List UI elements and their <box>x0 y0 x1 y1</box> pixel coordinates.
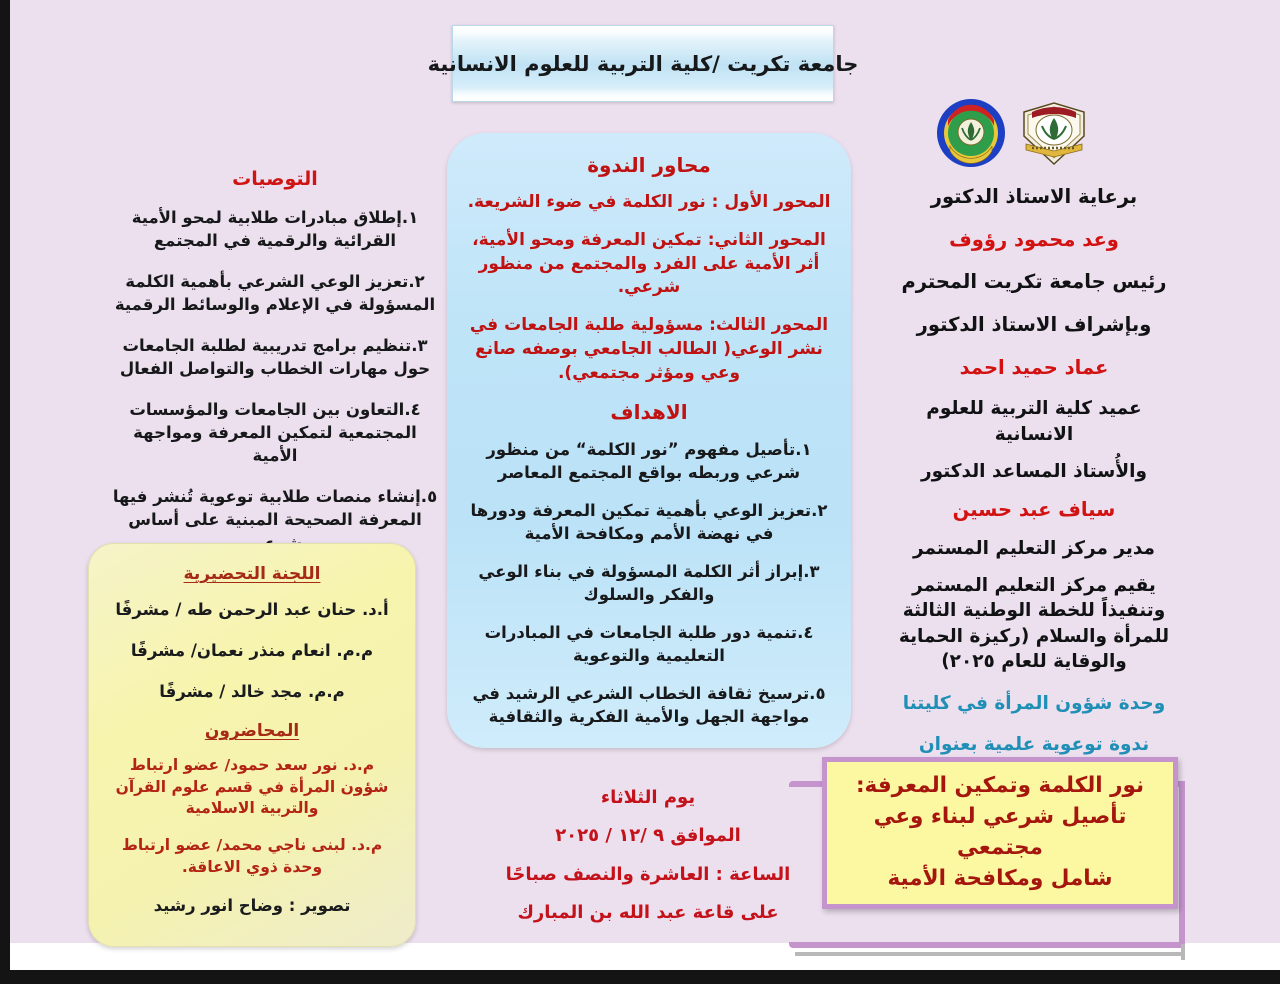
seminar-title-line-1: نور الكلمة وتمكين المعرفة: <box>856 773 1144 798</box>
event-details: يوم الثلاثاء الموافق ٩ /١٢ / ٢٠٢٥ الساعة… <box>488 786 808 939</box>
patronage-line-1: برعاية الاستاذ الدكتور <box>884 183 1184 211</box>
recommendation-item: ٣.تنظيم برامج تدريبية لطلبة الجامعات حول… <box>110 334 440 381</box>
supervision-line: وبإشراف الاستاذ الدكتور <box>884 311 1184 339</box>
goals-heading: الاهداف <box>467 400 831 424</box>
organizing-statement: يقيم مركز التعليم المستمر وتنفيذاً للخطة… <box>884 573 1184 675</box>
axes-heading: محاور الندوة <box>467 153 831 177</box>
recommendation-item: ١.إطلاق مبادرات طلابية لمحو الأمية القرا… <box>110 206 440 253</box>
lecturer-item: م.د. نور سعد حمود/ عضو ارتباط شؤون المرأ… <box>107 755 397 819</box>
committee-heading: اللجنة التحضيرية <box>107 564 397 584</box>
lecturer-item: م.د. لبنى ناجي محمد/ عضو ارتباط وحدة ذوي… <box>107 835 397 878</box>
recommendations-heading: التوصيات <box>110 168 440 190</box>
title-frame-shadow-line <box>795 952 1185 956</box>
committee-member: م.م. انعام منذر نعمان/ مشرفًا <box>107 639 397 662</box>
bottom-dark-border <box>0 970 1280 984</box>
university-name: جامعة تكريت /كلية التربية للعلوم الانسان… <box>428 52 859 76</box>
goal-item: ٣.إبراز أثر الكلمة المسؤولة في بناء الوع… <box>467 560 831 606</box>
college-circular-seal-icon <box>936 98 1006 168</box>
goal-item: ٤.تنمية دور طلبة الجامعات في المبادرات ا… <box>467 621 831 667</box>
seminar-title-box: نور الكلمة وتمكين المعرفة: تأصيل شرعي لب… <box>822 757 1178 909</box>
event-kind-label: ندوة توعوية علمية بعنوان <box>884 732 1184 758</box>
seminar-title: نور الكلمة وتمكين المعرفة: تأصيل شرعي لب… <box>841 771 1159 895</box>
preparatory-committee-box: اللجنة التحضيرية أ.د. حنان عبد الرحمن طه… <box>88 543 416 947</box>
seminar-title-line-2: تأصيل شرعي لبناء وعي مجتمعي <box>874 804 1127 860</box>
event-date: الموافق ٩ /١٢ / ٢٠٢٥ <box>488 824 808 848</box>
seminar-title-line-3: شامل ومكافحة الأمية <box>887 866 1112 891</box>
header-banner: جامعة تكريت /كلية التربية للعلوم الانسان… <box>452 25 834 102</box>
logo-group <box>930 97 1090 169</box>
event-day: يوم الثلاثاء <box>488 786 808 810</box>
supervisor-role-b: والأُستاذ المساعد الدكتور <box>884 459 1184 484</box>
event-time: الساعة : العاشرة والنصف صباحًا <box>488 863 808 887</box>
supervisor-role-a: عميد كلية التربية للعلوم الانسانية <box>884 396 1184 446</box>
patron-role: رئيس جامعة تكريت المحترم <box>884 268 1184 296</box>
recommendation-item: ٢.تعزيز الوعي الشرعي بأهمية الكلمة المسؤ… <box>110 270 440 317</box>
event-venue: على قاعة عبد الله بن المبارك <box>488 901 808 925</box>
left-dark-border <box>0 0 10 984</box>
tikrit-university-shield-icon <box>1018 98 1090 168</box>
patron-name: وعد محمود رؤوف <box>884 226 1184 254</box>
axis-item: المحور الأول : نور الكلمة في ضوء الشريعة… <box>467 191 831 215</box>
women-affairs-unit: وحدة شؤون المرأة في كليتنا <box>884 691 1184 717</box>
recommendations-column: التوصيات ١.إطلاق مبادرات طلابية لمحو الأ… <box>110 168 440 572</box>
goal-item: ١.تأصيل مفهوم ”نور الكلمة“ من منظور شرعي… <box>467 438 831 484</box>
recommendation-item: ٤.التعاون بين الجامعات والمؤسسات المجتمع… <box>110 398 440 468</box>
axis-item: المحور الثالث: مسؤولية طلبة الجامعات في … <box>467 314 831 385</box>
goal-item: ٥.ترسيخ ثقافة الخطاب الشرعي الرشيد في مو… <box>467 682 831 728</box>
goal-item: ٢.تعزيز الوعي بأهمية تمكين المعرفة ودوره… <box>467 499 831 545</box>
patronage-column: برعاية الاستاذ الدكتور وعد محمود رؤوف رئ… <box>884 183 1184 773</box>
committee-member: أ.د. حنان عبد الرحمن طه / مشرفًا <box>107 598 397 621</box>
director-name: سياف عبد حسين <box>884 496 1184 524</box>
lecturers-heading: المحاضرون <box>107 721 397 741</box>
axis-item: المحور الثاني: تمكين المعرفة ومحو الأمية… <box>467 229 831 300</box>
director-role: مدير مركز التعليم المستمر <box>884 536 1184 561</box>
seminar-axes-panel: محاور الندوة المحور الأول : نور الكلمة ف… <box>447 133 851 748</box>
photography-credit: تصوير : وضاح انور رشيد <box>107 894 397 917</box>
seminar-poster: جامعة تكريت /كلية التربية للعلوم الانسان… <box>0 0 1280 984</box>
supervisor-name: عماد حميد احمد <box>884 354 1184 382</box>
committee-member: م.م. مجد خالد / مشرفًا <box>107 680 397 703</box>
